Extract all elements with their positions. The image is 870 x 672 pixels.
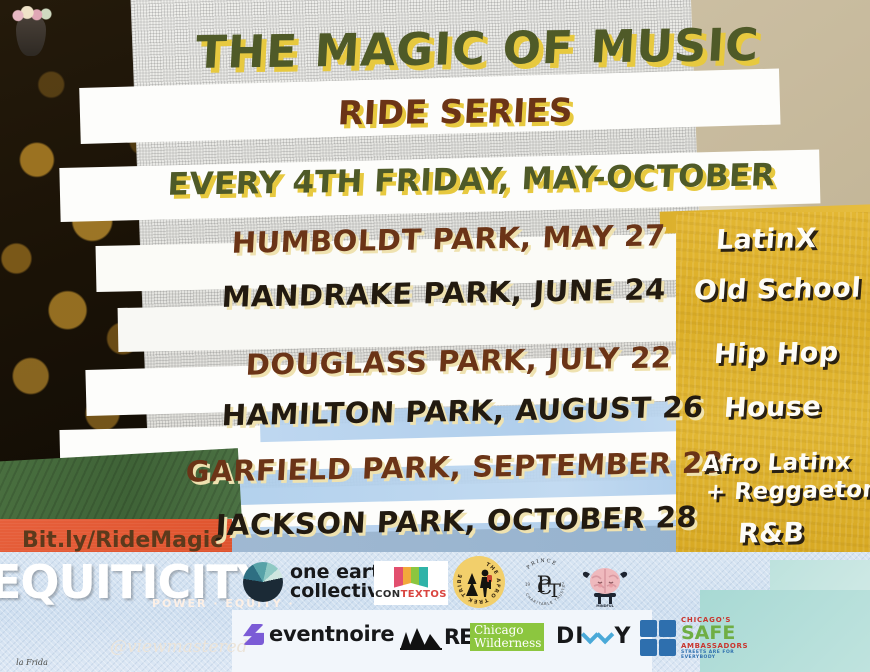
gold-genre-swatch: [676, 212, 870, 567]
sponsor-one-earth-collective[interactable]: one earth collective: [243, 562, 394, 602]
sponsor-chicagos-safe-ambassadors[interactable]: CHICAGO'S SAFE AMBASSADORS STREETS ARE F…: [640, 614, 750, 662]
contextos-bookmark-icon: [394, 567, 428, 588]
artwork-caption: la Frida: [0, 658, 467, 667]
svg-text:MINDFUL: MINDFUL: [596, 604, 614, 608]
bus-icon: [659, 639, 676, 656]
ride-genre-label: House: [723, 391, 823, 424]
flowers-icon: [12, 6, 52, 22]
sponsor-divvy[interactable]: DI Y: [556, 626, 631, 648]
sponsor-label-line2: Wilderness: [474, 637, 541, 650]
afro-trek-tribe-icon: THE AFRO TREK TRIBE: [453, 556, 505, 608]
sponsor-brain-health[interactable]: MINDFUL: [578, 556, 632, 608]
sponsor-label: CONTEXTOS: [375, 590, 447, 600]
car-icon: [640, 639, 657, 656]
sponsor-rei[interactable]: REI: [400, 626, 479, 648]
poster-subtitle: RIDE SERIES: [337, 91, 574, 133]
ride-genre-label: Hip Hop: [713, 337, 840, 370]
bicycle-icon: [659, 620, 676, 637]
eventnoire-e-icon: [243, 624, 264, 645]
sponsor-label-pre: DI: [556, 626, 584, 648]
sponsor-prince-charitable-trusts[interactable]: PRINCE P C T CHARITABLE TRUSTS 19 47: [515, 556, 573, 608]
sponsor-label-bottom: AMBASSADORS: [681, 642, 750, 650]
rei-mountain-icon: [400, 626, 442, 648]
brain-character-icon: MINDFUL: [578, 556, 632, 608]
bitly-link[interactable]: Bit.ly/RideMagic: [22, 528, 223, 553]
sponsor-afro-trek-tribe[interactable]: THE AFRO TREK TRIBE: [453, 556, 505, 608]
sponsor-chicago-wilderness[interactable]: Chicago Wilderness: [470, 623, 544, 651]
ride-genre-label: Old School: [693, 273, 862, 307]
sponsor-label-mid: SAFE: [681, 624, 750, 642]
ride-genre-label: R&B: [737, 517, 806, 549]
svg-text:47: 47: [559, 582, 565, 587]
pedestrian-icon: [640, 620, 657, 637]
safe-ambassadors-text: CHICAGO'S SAFE AMBASSADORS STREETS ARE F…: [681, 616, 750, 660]
svg-text:PRINCE: PRINCE: [526, 558, 559, 571]
svg-text:19: 19: [525, 582, 531, 587]
artist-handle: @viewmastered: [110, 637, 248, 657]
safe-ambassadors-icon-grid: [640, 620, 676, 656]
ride-genre-label: Afro Latinx: [701, 449, 852, 478]
divvy-chevron-icon: [596, 626, 614, 644]
poster-title: THE MAGIC OF MUSIC: [194, 18, 760, 79]
sponsor-eventnoire[interactable]: eventnoire: [243, 624, 394, 645]
ride-genre-extra-label: + Reggaeton: [705, 476, 870, 505]
prince-charitable-trusts-icon: PRINCE P C T CHARITABLE TRUSTS 19 47: [515, 556, 573, 608]
sponsor-label-textos: TEXTOS: [401, 589, 447, 600]
one-earth-globe-icon: [243, 562, 283, 602]
poster-canvas: THE MAGIC OF MUSIC RIDE SERIES EVERY 4TH…: [0, 0, 870, 672]
sponsor-contextos[interactable]: CONTEXTOS: [374, 561, 448, 605]
sponsor-label-sub: STREETS ARE FOR EVERYBODY: [681, 650, 750, 660]
sponsor-label-post: Y: [614, 626, 631, 648]
sponsor-label: eventnoire: [269, 624, 394, 645]
ride-genre-label: LatinX: [715, 223, 818, 256]
sponsor-label-con: CON: [375, 589, 400, 600]
